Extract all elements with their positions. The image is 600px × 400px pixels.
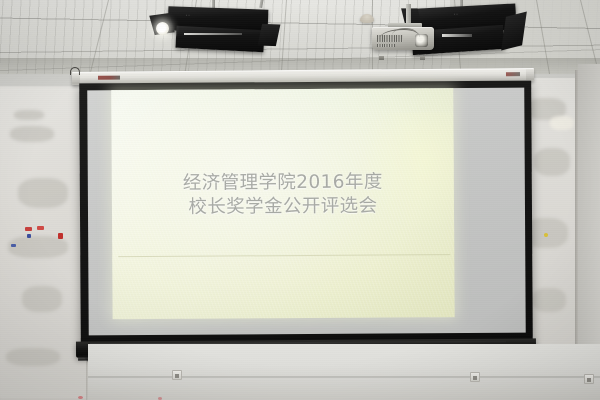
roller-cable-hook: [70, 67, 80, 75]
slide-title-line-1: 经济管理学院2016年度: [112, 170, 454, 196]
wall-outlet[interactable]: [470, 372, 480, 382]
projected-image: 经济管理学院2016年度 校长奖学金公开评选会: [111, 88, 454, 319]
projector-foot: [420, 56, 425, 60]
lower-wall-seam: [88, 376, 600, 378]
light-barn-door-right: [501, 12, 527, 51]
roller-brand-label: [98, 76, 120, 80]
light-brand-label: • •: [186, 13, 190, 17]
roller-brand-label: [506, 72, 520, 76]
magnet-blue: [27, 234, 31, 238]
projector-vent: [377, 44, 395, 47]
screen-surface: 经济管理学院2016年度 校长奖学金公开评选会: [87, 88, 525, 336]
projector-body: [372, 27, 434, 50]
projection-screen[interactable]: 经济管理学院2016年度 校长奖学金公开评选会: [79, 81, 533, 346]
roller-end-cap: [526, 69, 534, 80]
light-bulb-icon: [156, 22, 169, 35]
classroom-scene: • • • •: [0, 0, 600, 400]
light-support-rod: [259, 0, 264, 8]
light-barn-door-right: [258, 24, 281, 46]
magnet-red: [58, 233, 63, 239]
light-brand-label: • •: [454, 12, 458, 16]
magnet-yellow: [544, 233, 548, 237]
light-emitter-strip: [442, 34, 472, 37]
light-housing-lower: [175, 26, 264, 53]
slide-title: 经济管理学院2016年度 校长奖学金公开评选会: [112, 170, 454, 221]
smoke-detector-icon: [360, 14, 374, 23]
magnet-blue: [11, 244, 16, 247]
floor-speck: [78, 396, 83, 399]
wall-outlet[interactable]: [172, 370, 182, 380]
light-fixture-left[interactable]: • •: [150, 0, 280, 62]
projector-cable: [392, 28, 418, 35]
light-fixture-right[interactable]: • •: [418, 0, 538, 60]
projector-foot: [379, 56, 384, 60]
wall-outlet[interactable]: [584, 374, 594, 384]
light-emitter-strip: [184, 33, 242, 35]
magnet-red: [25, 227, 32, 231]
magnet-red: [37, 226, 44, 230]
projector[interactable]: [372, 26, 434, 56]
slide-title-line-2: 校长奖学金公开评选会: [112, 195, 454, 221]
lower-wall: [88, 344, 600, 400]
